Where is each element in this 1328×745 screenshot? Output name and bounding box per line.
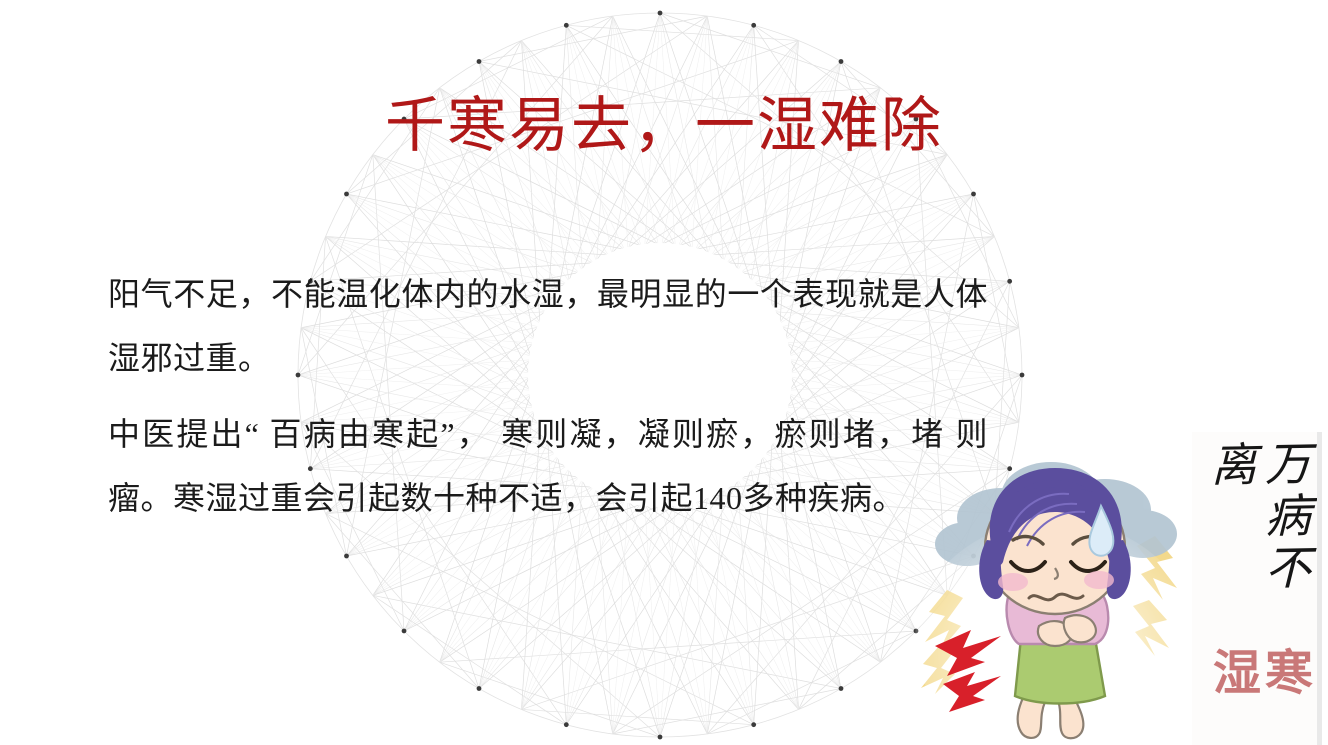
slide-canvas: 千寒易去，一湿难除 阳气不足，不能温化体内的水湿，最明显的一个表现就是人体湿邪过… <box>0 0 1328 745</box>
paragraph-1: 阳气不足，不能温化体内的水湿，最明显的一个表现就是人体湿邪过重。 <box>108 262 988 390</box>
paragraph-2: 中医提出“ 百病由寒起”， 寒则凝，凝则瘀，瘀则堵，堵 则瘤。寒湿过重会引起数十… <box>108 402 988 530</box>
cheek-left-shape <box>998 573 1028 591</box>
body-text-block: 阳气不足，不能温化体内的水湿，最明显的一个表现就是人体湿邪过重。 中医提出“ 百… <box>108 262 988 530</box>
calligraphy-red-text: 寒湿 <box>1205 647 1309 745</box>
calligraphy-black-text: 万病不离 <box>1203 439 1311 646</box>
skirt-shape <box>1015 638 1105 704</box>
page-title: 千寒易去，一湿难除 <box>0 92 1328 160</box>
cheek-right-shape <box>1084 571 1114 589</box>
calligraphy-panel: 万病不离 寒湿 <box>1192 432 1322 745</box>
panel-edge-divider <box>1317 432 1322 745</box>
